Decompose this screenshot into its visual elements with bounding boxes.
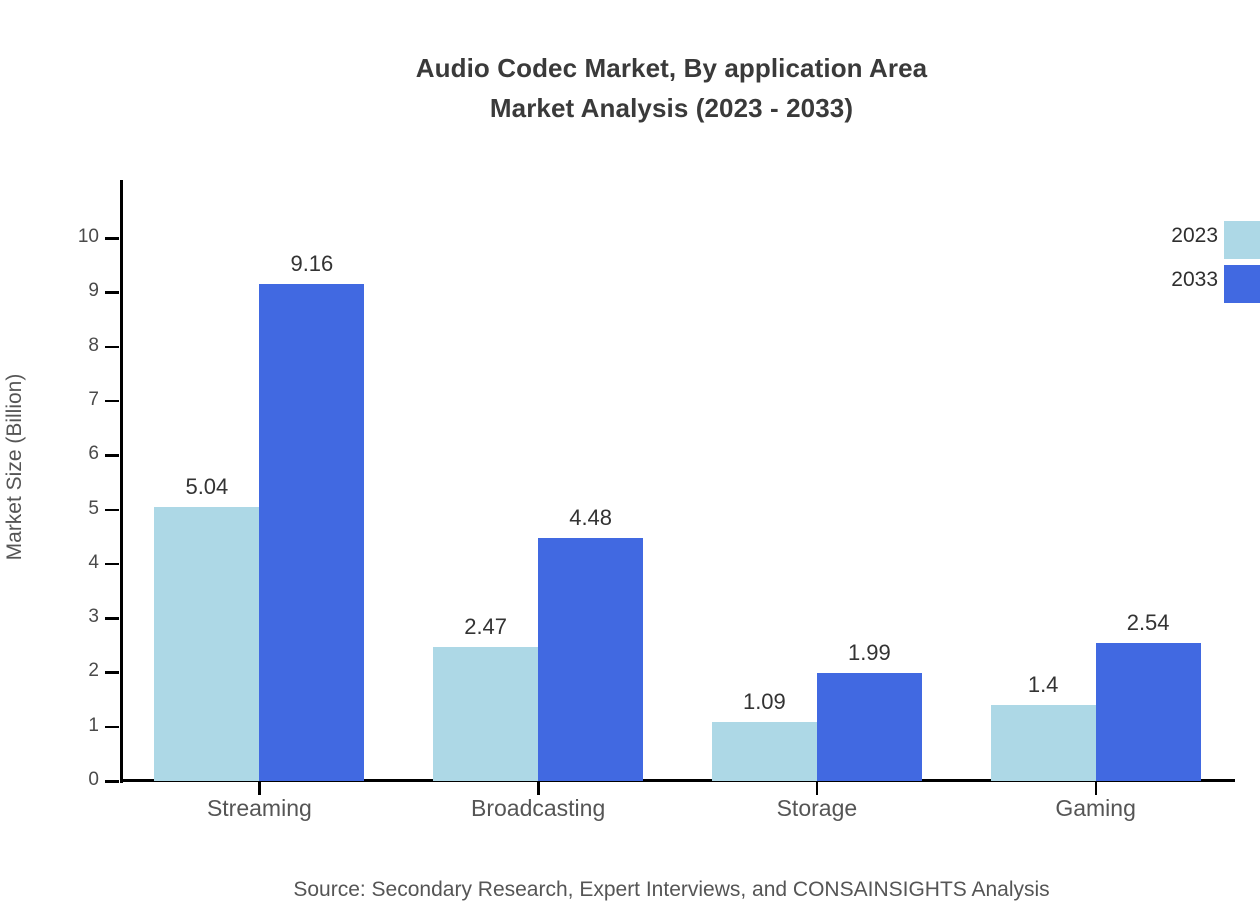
source-note: Source: Secondary Research, Expert Inter… bbox=[0, 878, 1260, 902]
x-axis-tick-mark bbox=[537, 782, 540, 795]
y-axis-title: Market Size (Billion) bbox=[3, 187, 27, 747]
y-axis-tick-mark bbox=[105, 291, 119, 294]
y-axis-tick-mark bbox=[105, 726, 119, 729]
bar-value-label: 1.09 bbox=[694, 689, 834, 715]
y-axis-tick-mark bbox=[105, 617, 119, 620]
bar-value-label: 5.04 bbox=[137, 474, 277, 500]
bar-value-label: 4.48 bbox=[521, 505, 661, 531]
legend: 2023 2033 bbox=[1120, 218, 1260, 306]
legend-swatch-2033 bbox=[1224, 265, 1260, 303]
y-axis-tick-label: 9 bbox=[55, 280, 99, 302]
bar-value-label: 1.99 bbox=[799, 640, 939, 666]
x-axis-tick-mark bbox=[258, 782, 261, 795]
bar-gaming-2033[interactable] bbox=[1096, 643, 1201, 781]
y-axis-tick-mark bbox=[105, 400, 119, 403]
chart-title: Audio Codec Market, By application Area … bbox=[0, 48, 1260, 128]
y-axis-tick-mark bbox=[105, 671, 119, 674]
y-axis-tick-mark bbox=[105, 454, 119, 457]
legend-label-2033: 2033 bbox=[1171, 268, 1218, 292]
y-axis-tick-mark bbox=[105, 509, 119, 512]
legend-item-2023[interactable]: 2023 bbox=[1120, 218, 1260, 262]
legend-label-2023: 2023 bbox=[1171, 224, 1218, 248]
y-axis-tick-label: 5 bbox=[55, 498, 99, 520]
y-axis-tick-mark bbox=[105, 563, 119, 566]
bar-streaming-2023[interactable] bbox=[154, 507, 259, 781]
legend-item-2033[interactable]: 2033 bbox=[1120, 262, 1260, 306]
x-axis-tick-label: Broadcasting bbox=[398, 795, 678, 822]
y-axis-tick-label: 3 bbox=[55, 606, 99, 628]
x-axis-tick-label: Gaming bbox=[956, 795, 1236, 822]
legend-swatch-2023 bbox=[1224, 221, 1260, 259]
bar-chart: Audio Codec Market, By application Area … bbox=[0, 0, 1260, 920]
x-axis-tick-mark bbox=[1095, 782, 1098, 795]
y-axis-tick-label: 7 bbox=[55, 389, 99, 411]
y-axis-tick-label: 2 bbox=[55, 660, 99, 682]
bar-value-label: 1.4 bbox=[973, 672, 1113, 698]
y-axis-tick-label: 6 bbox=[55, 443, 99, 465]
y-axis-tick-mark bbox=[105, 237, 119, 240]
bar-storage-2033[interactable] bbox=[817, 673, 922, 781]
chart-title-line-2: Market Analysis (2023 - 2033) bbox=[0, 88, 1260, 128]
y-axis-tick-mark bbox=[105, 346, 119, 349]
bar-broadcasting-2023[interactable] bbox=[433, 647, 538, 781]
bar-value-label: 2.47 bbox=[416, 614, 556, 640]
y-axis-tick-label: 1 bbox=[55, 715, 99, 737]
x-axis-tick-label: Storage bbox=[677, 795, 957, 822]
y-axis-tick-label: 10 bbox=[55, 226, 99, 248]
y-axis-tick-mark bbox=[105, 780, 119, 783]
bar-broadcasting-2033[interactable] bbox=[538, 538, 643, 781]
bar-streaming-2033[interactable] bbox=[259, 284, 364, 781]
x-axis-tick-label: Streaming bbox=[119, 795, 399, 822]
y-axis-tick-label: 4 bbox=[55, 552, 99, 574]
x-axis-tick-mark bbox=[816, 782, 819, 795]
bar-value-label: 9.16 bbox=[242, 251, 382, 277]
y-axis-spine bbox=[120, 180, 123, 783]
y-axis-tick-label: 0 bbox=[55, 769, 99, 791]
chart-title-line-1: Audio Codec Market, By application Area bbox=[0, 48, 1260, 88]
bar-storage-2023[interactable] bbox=[712, 722, 817, 781]
bar-value-label: 2.54 bbox=[1078, 610, 1218, 636]
bar-gaming-2023[interactable] bbox=[991, 705, 1096, 781]
y-axis-tick-label: 8 bbox=[55, 335, 99, 357]
